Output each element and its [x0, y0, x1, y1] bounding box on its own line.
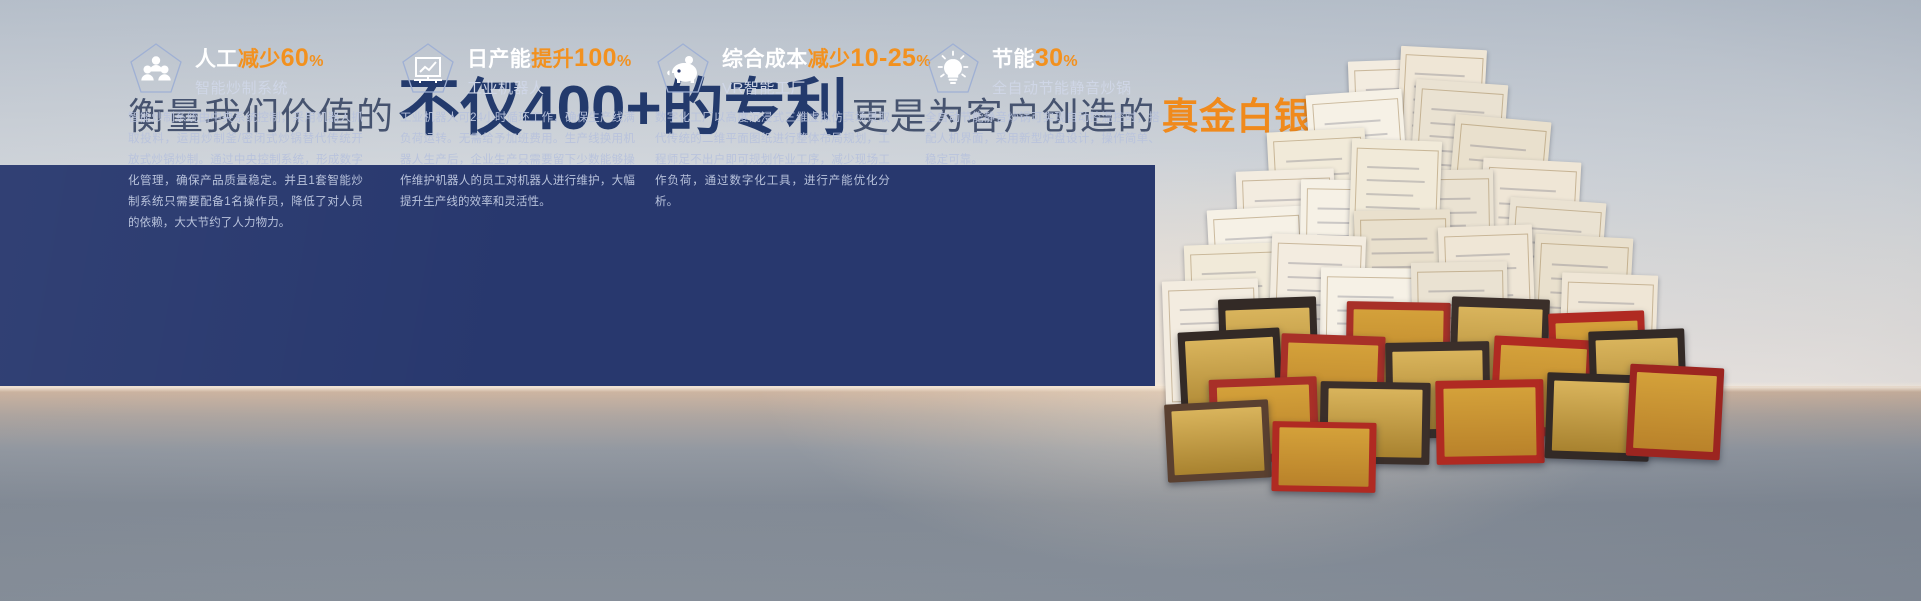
feature-title-label-2: 日产能 — [467, 48, 531, 71]
feature-text-3: 综合成本减少10-25% VR智能工厂 — [722, 44, 931, 98]
feature-text-1: 人工减少60% 智能炒制系统 — [195, 44, 324, 98]
feature-body-4: 全自动节能静音炒锅可实现自动控温控时，搭配人机界面，采用新型炉盘设计，操作简单、… — [925, 108, 1160, 171]
award-plaque-red — [1626, 364, 1725, 461]
feature-text-4: 节能30% 全自动节能静音炒锅 — [992, 44, 1132, 98]
piggy-bank-icon — [655, 41, 711, 97]
award-plaque-red — [1271, 421, 1376, 493]
feature-header-3: 综合成本减少10-25% VR智能工厂 — [655, 0, 905, 86]
feature-body-3: 数字化工厂以高度沉浸式三维虚拟仿真场景取代传统的二维平面图纸进行整体布局规划，工… — [655, 108, 890, 213]
feature-header-2: 日产能提升100% 工业机器人 — [400, 0, 650, 86]
feature-header-4: 节能30% 全自动节能静音炒锅 — [925, 0, 1175, 86]
feature-body-2: 工业机器人可24小时循环工作，确保生产线满负荷运转。无需给予加班费用。生产线换用… — [400, 108, 635, 213]
award-plaque-red — [1435, 379, 1544, 465]
feature-title-number-4: 30 — [1035, 44, 1064, 72]
feature-subtitle-3: VR智能工厂 — [722, 77, 931, 98]
feature-item-1[interactable]: 人工减少60% 智能炒制系统 智能炒制系统由中央系统控制，采用机器人抓取投料，运… — [128, 0, 378, 234]
feature-title-number-2: 100 — [574, 44, 617, 72]
feature-title-unit-1: % — [309, 53, 324, 70]
feature-subtitle-1: 智能炒制系统 — [195, 77, 324, 98]
feature-subtitle-2: 工业机器人 — [467, 77, 632, 98]
feature-title-label-1: 人工 — [195, 48, 238, 71]
people-group-icon — [128, 41, 184, 97]
feature-title-4: 节能30% — [992, 45, 1132, 71]
feature-title-number-3: 10-25 — [850, 44, 916, 72]
feature-title-label-3: 综合成本 — [722, 48, 808, 71]
feature-title-2: 日产能提升100% — [467, 45, 632, 71]
feature-text-2: 日产能提升100% 工业机器人 — [467, 44, 632, 98]
chart-board-icon — [400, 41, 456, 97]
award-plaque-wood — [1164, 399, 1272, 482]
feature-title-accent-2: 提升 — [531, 48, 574, 71]
feature-item-2[interactable]: 日产能提升100% 工业机器人 工业机器人可24小时循环工作，确保生产线满负荷运… — [400, 0, 650, 213]
feature-title-number-1: 60 — [281, 44, 310, 72]
feature-subtitle-4: 全自动节能静音炒锅 — [992, 77, 1132, 98]
banner-stage: 衡量我们价值的 不仅400+的专利 更是为客户创造的 真金白银的效益 — [0, 0, 1921, 601]
feature-title-label-4: 节能 — [992, 48, 1035, 71]
feature-title-unit-4: % — [1063, 53, 1078, 70]
feature-body-1: 智能炒制系统由中央系统控制，采用机器人抓取投料，运用炒制釜/密闭式炒锅替代传统开… — [128, 108, 363, 234]
feature-item-4[interactable]: 节能30% 全自动节能静音炒锅 全自动节能静音炒锅可实现自动控温控时，搭配人机界… — [925, 0, 1175, 171]
feature-title-1: 人工减少60% — [195, 45, 324, 71]
feature-title-3: 综合成本减少10-25% — [722, 45, 931, 71]
feature-header-1: 人工减少60% 智能炒制系统 — [128, 0, 378, 86]
feature-title-accent-3: 减少 — [808, 48, 851, 71]
feature-title-unit-2: % — [617, 53, 632, 70]
feature-item-3[interactable]: 综合成本减少10-25% VR智能工厂 数字化工厂以高度沉浸式三维虚拟仿真场景取… — [655, 0, 905, 213]
lightbulb-icon — [925, 41, 981, 97]
feature-title-accent-1: 减少 — [238, 48, 281, 71]
